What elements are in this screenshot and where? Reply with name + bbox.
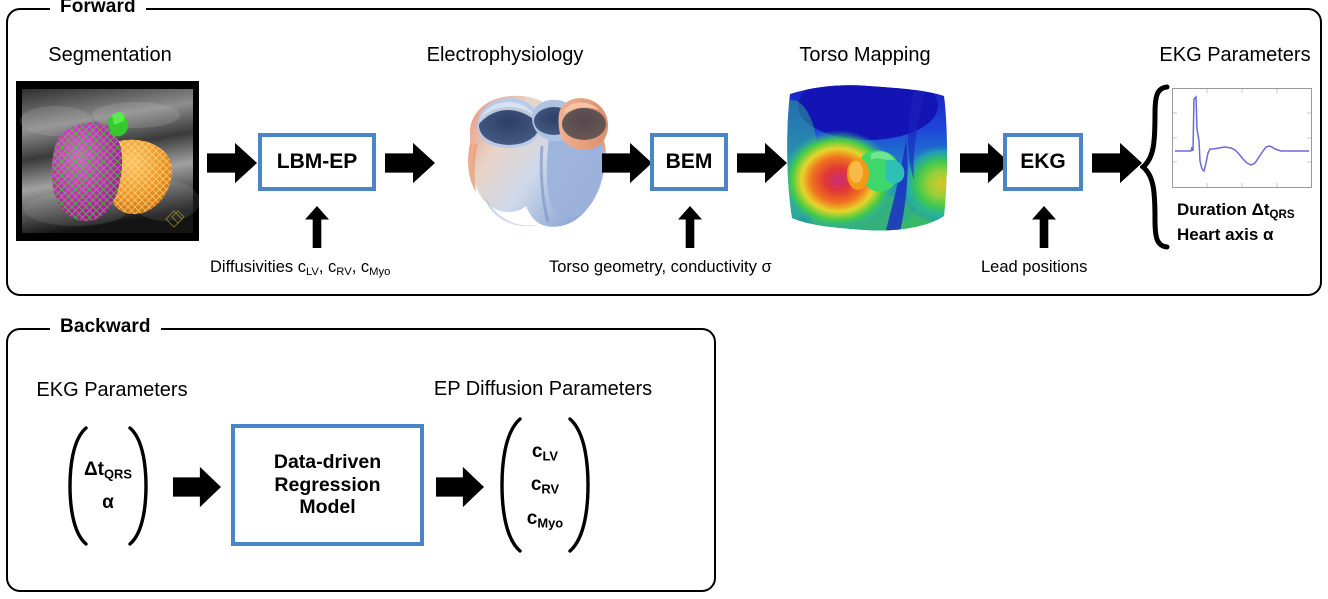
output-vector-item-0: cLV bbox=[532, 435, 558, 468]
caption-diffusivities-text: Diffusivities c bbox=[210, 258, 306, 276]
label-duration-qrs: Duration ΔtQRS bbox=[1177, 200, 1295, 221]
process-box-bem[interactable]: BEM bbox=[650, 133, 728, 191]
input-vector-item-1: α bbox=[102, 486, 114, 519]
process-box-bem-label: BEM bbox=[666, 150, 713, 174]
caption-diffusivities: Diffusivities cLV, cRV, cMyo bbox=[210, 258, 390, 278]
segmentation-image bbox=[16, 81, 199, 241]
model-box-line-1: Data-driven bbox=[274, 451, 381, 473]
ekg-waveform-plot bbox=[1172, 88, 1312, 188]
backward-panel-legend: Backward bbox=[50, 316, 161, 338]
label-duration-sub: QRS bbox=[1270, 209, 1295, 221]
label-heart-axis: Heart axis α bbox=[1177, 225, 1273, 245]
output-vector-items: cLV cRV cMyo bbox=[527, 435, 563, 535]
section-title-segmentation: Segmentation bbox=[30, 44, 190, 67]
process-box-ekg-label: EKG bbox=[1020, 150, 1066, 174]
output-vector-item-2: cMyo bbox=[527, 502, 563, 535]
torso-mapping-image bbox=[776, 80, 956, 240]
forward-panel-legend: Forward bbox=[50, 0, 146, 18]
process-box-regression-model[interactable]: Data-driven Regression Model bbox=[231, 424, 424, 546]
curly-brace-ekg-parameters bbox=[1140, 84, 1170, 250]
process-box-ekg[interactable]: EKG bbox=[1003, 133, 1083, 191]
output-vector-ep-parameters: cLV cRV cMyo bbox=[490, 415, 600, 555]
output-vector-item-1: cRV bbox=[531, 468, 559, 501]
section-title-torso-mapping: Torso Mapping bbox=[780, 44, 950, 67]
section-title-backward-ekg-parameters: EKG Parameters bbox=[22, 379, 202, 402]
caption-diffusivities-sub-myo: Myo bbox=[369, 266, 390, 278]
electrophysiology-heart-model bbox=[448, 74, 620, 242]
label-duration-text: Duration Δt bbox=[1177, 200, 1270, 219]
section-title-electrophysiology: Electrophysiology bbox=[410, 44, 600, 67]
section-title-ekg-parameters: EKG Parameters bbox=[1146, 44, 1324, 67]
caption-diffusivities-sep1: , c bbox=[319, 258, 336, 276]
section-title-ep-diffusion-parameters: EP Diffusion Parameters bbox=[415, 378, 671, 401]
caption-diffusivities-sep2: , c bbox=[352, 258, 369, 276]
caption-diffusivities-sub-lv: LV bbox=[306, 266, 319, 278]
caption-torso-geometry: Torso geometry, conductivity σ bbox=[549, 258, 772, 277]
caption-lead-positions: Lead positions bbox=[981, 258, 1087, 277]
input-vector-item-0: ΔtQRS bbox=[84, 453, 132, 486]
input-vector-ekg-parameters: ΔtQRS α bbox=[60, 424, 156, 548]
model-box-line-3: Model bbox=[299, 496, 355, 518]
process-box-lbm-ep-label: LBM-EP bbox=[277, 150, 358, 174]
input-vector-items: ΔtQRS α bbox=[84, 453, 132, 520]
process-box-lbm-ep[interactable]: LBM-EP bbox=[258, 133, 376, 191]
model-box-line-2: Regression bbox=[274, 474, 380, 496]
caption-diffusivities-sub-rv: RV bbox=[336, 266, 351, 278]
